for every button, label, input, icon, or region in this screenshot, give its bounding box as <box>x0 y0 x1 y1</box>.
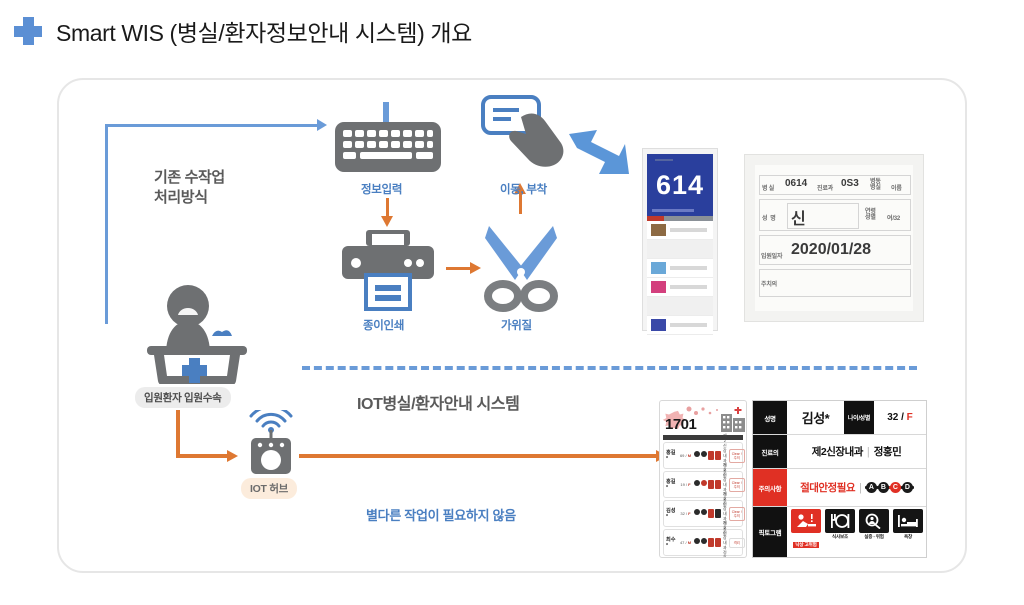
iot-no-work-note: 별다른 작업이 필요하지 않음 <box>366 505 516 524</box>
sign-header: 614 <box>647 154 713 216</box>
row-name: 홍길* <box>666 449 677 462</box>
row-badge: Clear !주의 <box>729 507 745 521</box>
detail-value-caution: 절대안정필요 | A B C D <box>787 469 926 506</box>
photo-paper-card: 병 실 0614 진료과 0S3 병동병실 이름 성 명 신 연령성별 여/32… <box>744 154 924 322</box>
row-doctor: 제2신장내과정홍민 <box>723 520 727 558</box>
row-pictograms <box>694 538 721 547</box>
detail-value-age: 32 / F <box>874 401 926 434</box>
detail-value-doctor: 제2신장내과 | 정홍민 <box>787 435 926 468</box>
pictogram-caption: 욕창 <box>892 534 924 540</box>
hand-card-icon <box>481 95 571 175</box>
slide-page: Smart WIS (병실/환자정보안내 시스템) 개요 기존 수작업 처리방식… <box>0 0 1024 605</box>
sign-row <box>647 316 713 335</box>
row-age: 47 / M <box>679 540 692 546</box>
photo-room-sign-614: 614 <box>642 148 718 331</box>
manual-method-label: 기존 수작업 처리방식 <box>154 168 225 208</box>
badge-b: B <box>878 482 889 493</box>
paper-card-box-mid <box>759 199 911 231</box>
row-badge: Clear !주의 <box>729 478 745 492</box>
page-title-text: Smart WIS (병실/환자정보안내 시스템) 개요 <box>56 14 472 48</box>
board-1701-row: 홍길* 19 / F 제2신장내과정홍민 Clear !주의 <box>663 471 743 498</box>
pictogram-list: 낙상 고위험 식사보조 <box>787 507 927 557</box>
printer-to-scissors-line <box>446 267 472 270</box>
iot-flow-line-horizontal <box>176 454 229 458</box>
iot-flow-line-vertical <box>176 410 180 458</box>
pictogram-meal-assist: 식사보조 <box>824 509 856 555</box>
printer-label: 종이인쇄 <box>363 317 404 333</box>
pictogram-bedsore: 욕창 <box>892 509 924 555</box>
badge-d: D <box>902 482 913 493</box>
pictogram-caption: 낙상 고위험 <box>793 542 818 548</box>
detail-row-doctor: 진료의 제2신장내과 | 정홍민 <box>753 435 926 469</box>
detail-key-pictogram: 픽토그램 <box>753 507 787 557</box>
iot-main-line <box>299 454 659 458</box>
board-1701-divider <box>663 435 743 440</box>
row-age: 19 / F <box>679 482 692 488</box>
row-pictograms <box>694 509 721 518</box>
diagram-canvas: 기존 수작업 처리방식 입원환자 입원수속 <box>57 78 967 573</box>
patient-caution: 절대안정필요 <box>800 480 855 495</box>
row-name: 김성* <box>666 507 677 520</box>
sign-tick <box>655 159 673 161</box>
board-1701-row: 김성* 32 / F 제2신장내과정홍민 Clear !주의 <box>663 500 743 527</box>
detail-value-name: 김성* <box>787 401 844 434</box>
row-name: 최수* <box>666 536 677 549</box>
detail-separator: | <box>867 446 870 458</box>
detail-key-age: 나이/성별 <box>844 401 874 434</box>
iot-hub-icon <box>243 410 299 476</box>
plus-icon <box>14 17 42 45</box>
manual-flow-line-horizontal <box>105 124 319 127</box>
manual-method-label-line2: 처리방식 <box>154 188 225 208</box>
row-badge: Clear !주의 <box>729 449 745 463</box>
iot-hub-pill: IOT 허브 <box>241 478 297 499</box>
detail-key-name: 성명 <box>753 401 787 434</box>
board-1701-row: 최수* 47 / M 제2신장내과정홍민 격리 <box>663 529 743 556</box>
scissors-icon <box>483 222 559 314</box>
badge-a: A <box>866 482 877 493</box>
sign-row <box>647 221 713 240</box>
bedsore-icon <box>893 509 923 533</box>
page-title: Smart WIS (병실/환자정보안내 시스템) 개요 <box>14 14 472 48</box>
sign-color-bar <box>647 216 713 221</box>
manual-flow-line-vertical <box>105 124 108 324</box>
patient-department: 제2신장내과 <box>812 444 863 459</box>
row-pictograms <box>694 480 721 489</box>
paper-card-box-top <box>759 175 911 195</box>
row-age: 69 / M <box>679 453 692 459</box>
keyboard-to-printer-arrowhead <box>381 216 393 227</box>
sign-row <box>647 297 713 316</box>
manual-result-arrow-icon <box>567 128 631 182</box>
paper-card-box-bottom <box>759 269 911 297</box>
iot-system-heading: IOT병실/환자안내 시스템 <box>357 395 519 415</box>
fall-risk-icon <box>791 509 821 533</box>
pictogram-fall-risk: 낙상 고위험 <box>790 509 822 555</box>
board-1701-room-number: 1701 <box>665 416 696 433</box>
detail-row-caution: 주의사항 절대안정필요 | A B C D <box>753 469 926 507</box>
detail-separator: | <box>859 482 862 494</box>
pictogram-caption: 실증 - 위험 <box>858 534 890 540</box>
keyboard-label: 정보입력 <box>361 181 402 197</box>
board-1701-row: 홍길* 69 / M 제2신장내과정홍민 Clear !주의 <box>663 442 743 469</box>
room-board-1701: 1701 홍길* 69 / M 제2신장내과정홍민 Clear !주의 홍길* … <box>659 400 747 558</box>
patient-age-gender: 32 / F <box>882 412 918 423</box>
manual-flow-arrowhead <box>317 119 327 131</box>
sign-row <box>647 259 713 278</box>
pictogram-caption: 식사보조 <box>824 534 856 540</box>
detail-row-name: 성명 김성* 나이/성별 32 / F <box>753 401 926 435</box>
detail-key-doctor: 진료의 <box>753 435 787 468</box>
keyboard-icon <box>331 102 445 174</box>
section-divider <box>302 366 917 370</box>
patient-name: 김성* <box>802 408 829 427</box>
badge-c: C <box>890 482 901 493</box>
admission-desk-pill: 입원환자 입원수속 <box>135 387 231 408</box>
printer-to-scissors-arrowhead <box>470 262 481 274</box>
patient-doctor: 정홍민 <box>874 444 901 459</box>
dementia-risk-icon <box>859 509 889 533</box>
board-1701-header: 1701 <box>663 404 743 434</box>
row-badge: 격리 <box>729 538 745 548</box>
keyboard-to-printer-line <box>386 198 389 217</box>
reception-desk-icon <box>142 284 252 384</box>
printer-icon <box>340 230 436 312</box>
sign-row <box>647 240 713 259</box>
attach-label: 이동, 부착 <box>500 181 547 197</box>
row-pictograms <box>694 451 721 460</box>
manual-method-label-line1: 기존 수작업 <box>154 168 225 188</box>
paper-card-box-date <box>759 235 911 265</box>
iot-flow-arrowhead <box>227 450 238 462</box>
row-name: 홍길* <box>666 478 677 491</box>
detail-key-caution: 주의사항 <box>753 469 787 506</box>
pictogram-dementia-risk: 실증 - 위험 <box>858 509 890 555</box>
paper-card-inner: 병 실 0614 진료과 0S3 병동병실 이름 성 명 신 연령성별 여/32… <box>755 165 913 311</box>
sign-row <box>647 278 713 297</box>
patient-detail-board: 성명 김성* 나이/성별 32 / F 진료의 제2신장내과 | 정홍민 주의사… <box>752 400 927 558</box>
sign-subtitle-bar <box>652 209 694 212</box>
row-age: 32 / F <box>679 511 692 517</box>
caution-badges: A B C D <box>866 482 913 493</box>
detail-row-pictogram: 픽토그램 낙상 고위험 <box>753 507 926 557</box>
sign-room-number: 614 <box>656 172 704 199</box>
meal-assist-icon <box>825 509 855 533</box>
scissors-label: 가위질 <box>501 317 532 333</box>
